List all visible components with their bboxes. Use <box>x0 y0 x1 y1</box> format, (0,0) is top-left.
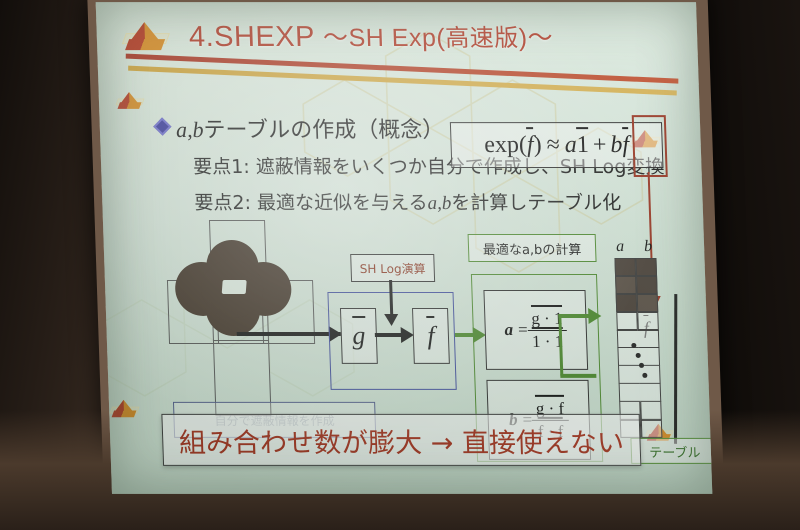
arrow-calc-to-table-base <box>560 374 596 378</box>
ab-table-header: a b <box>616 238 661 256</box>
formula-lhs-close: ) <box>533 132 542 159</box>
sh-log-operation-label: SH Log演算 <box>359 259 425 276</box>
bullet-heading-text: テーブルの作成（概念） <box>203 118 445 143</box>
arrow-shlog-down-head <box>384 314 398 326</box>
table-ellipsis-dots <box>631 338 648 383</box>
conclusion-banner: 組み合わせ数が膨大 → 直接使えない <box>161 414 641 466</box>
table-row <box>619 384 662 402</box>
g-bar-symbol: g <box>352 321 366 351</box>
bullet-heading-var: a,b <box>176 117 204 142</box>
f-bar-symbol: f <box>427 321 435 351</box>
f-bar-box: f <box>412 308 450 364</box>
point-2: 要点2: 最適な近似を与えるa,bを計算しテーブル化 <box>194 188 622 215</box>
optimal-ab-label-box: 最適なa,bの計算 <box>468 234 597 262</box>
conclusion-banner-text: 組み合わせ数が膨大 → 直接使えない <box>178 420 624 459</box>
formula-approx: ≈ <box>546 132 560 159</box>
formula-term-f: f <box>622 132 630 159</box>
point-2-pre: 最適な近似を与える <box>257 192 428 214</box>
slide-title: 4.SHEXP ～SH Exp(高速版)～ <box>188 18 553 54</box>
slide-title-subtitle-jp: 高速版 <box>445 24 519 52</box>
equation-a-var: a <box>504 320 513 340</box>
formula-term-one: 1 <box>576 132 589 159</box>
formula-term-b: b <box>610 132 623 159</box>
table-row <box>615 276 658 294</box>
occlusion-blob-icon <box>174 240 295 336</box>
point-2-label: 要点2: <box>194 192 251 214</box>
arrow-occlusion-to-g <box>237 332 341 336</box>
point-2-var: a,b <box>427 193 451 214</box>
formula-lhs-var: f <box>527 132 535 159</box>
table-caption-text: テーブル <box>649 441 701 460</box>
projected-slide: 4.SHEXP ～SH Exp(高速版)～ a,bテーブルの作成（概念） 要点1… <box>96 2 713 494</box>
slide-title-subtitle-suffix: )～ <box>518 24 553 52</box>
formula-plus: + <box>592 132 606 159</box>
sh-log-operation-box: SH Log演算 <box>350 254 435 282</box>
table-caption: テーブル <box>630 438 712 464</box>
table-row <box>614 258 657 276</box>
slide-title-number: 4.SHEXP <box>188 21 315 53</box>
table-range-rule <box>674 294 677 444</box>
formula-highlight-box <box>632 115 668 177</box>
table-row <box>616 294 659 312</box>
arrow-calc-to-table-head <box>588 308 602 324</box>
optimal-ab-label-text: 最適なa,bの計算 <box>483 239 582 258</box>
equation-a-box: a = g · 1 1 · 1 <box>483 290 588 370</box>
bullet-heading: a,bテーブルの作成（概念） <box>175 112 444 144</box>
slide-title-subtitle-prefix: ～SH Exp( <box>323 24 446 52</box>
point-2-post: を計算しテーブル化 <box>451 192 622 214</box>
point-1-label: 要点1: <box>193 156 250 178</box>
table-row <box>616 312 659 330</box>
formula-term-a: a <box>564 132 577 159</box>
arrow-calc-to-table <box>558 314 592 318</box>
formula-lhs: exp( <box>484 132 528 159</box>
screenshot-root: 4.SHEXP ～SH Exp(高速版)～ a,bテーブルの作成（概念） 要点1… <box>0 0 800 530</box>
g-bar-box: g <box>340 308 378 364</box>
